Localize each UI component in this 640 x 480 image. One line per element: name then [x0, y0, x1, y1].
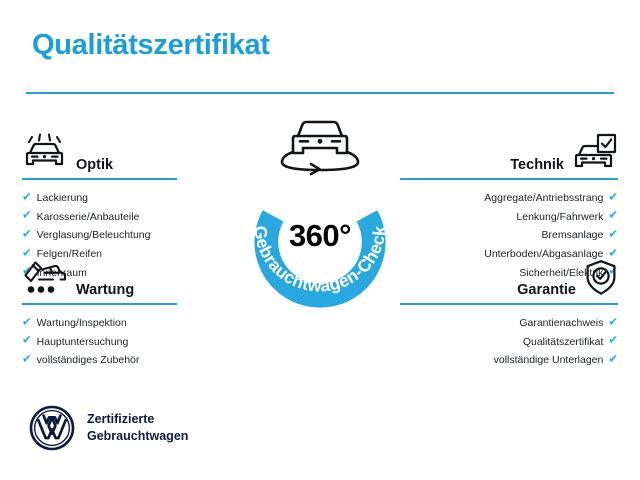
section-optik-divider [22, 178, 177, 180]
list-item-label: Wartung/Inspektion [37, 314, 127, 333]
section-garantie-header: Garantie [400, 258, 618, 298]
shield-check-icon [584, 258, 618, 298]
check-icon: ✔ [608, 192, 618, 204]
section-garantie-title: Garantie [400, 283, 576, 299]
section-garantie-list: Garantienachweis✔ Qualitätszertifikat✔ v… [400, 314, 618, 370]
section-wartung: Wartung ✔Wartung/Inspektion ✔Hauptunters… [22, 258, 237, 370]
list-item-label: Verglasung/Beleuchtung [37, 226, 151, 245]
list-item: Lenkung/Fahrwerk✔ [400, 208, 618, 227]
section-technik-divider [400, 178, 618, 180]
badge-360-gebrauchtwagen-check: Gebrauchtwagen-Check 360° [236, 112, 404, 312]
page-title: Qualitätszertifikat [32, 30, 270, 62]
vw-footer-line2: Gebrauchtwagen [87, 428, 188, 445]
section-optik-header: Optik [22, 133, 237, 173]
check-icon: ✔ [608, 229, 618, 241]
section-wartung-divider [22, 303, 177, 305]
list-item-label: Qualitätszertifikat [523, 333, 604, 352]
list-item: ✔Lackierung [22, 189, 237, 208]
check-icon: ✔ [608, 354, 618, 366]
section-garantie: Garantie Garantienachweis✔ Qualitätszert… [400, 258, 618, 370]
badge-degrees-label: 360° [236, 220, 404, 251]
check-icon: ✔ [22, 211, 32, 223]
list-item-label: Lackierung [37, 189, 88, 208]
list-item: ✔Hauptuntersuchung [22, 333, 237, 352]
list-item: ✔Verglasung/Beleuchtung [22, 226, 237, 245]
list-item-label: Hauptuntersuchung [37, 333, 129, 352]
check-icon: ✔ [22, 317, 32, 329]
section-technik-header: Technik [400, 133, 618, 173]
list-item: ✔vollständiges Zubehör [22, 351, 237, 370]
qualitaetszertifikat-page: Qualitätszertifikat Opt [0, 0, 640, 480]
vw-footer: Zertifizierte Gebrauchtwagen [29, 405, 188, 451]
list-item: Bremsanlage✔ [400, 226, 618, 245]
list-item: Qualitätszertifikat✔ [400, 333, 618, 352]
check-icon: ✔ [22, 336, 32, 348]
section-garantie-divider [400, 303, 618, 305]
list-item-label: Garantienachweis [519, 314, 603, 333]
list-item: ✔Wartung/Inspektion [22, 314, 237, 333]
check-icon: ✔ [22, 229, 32, 241]
section-optik-title: Optik [76, 158, 237, 174]
vw-footer-line1: Zertifizierte [87, 411, 188, 428]
list-item-label: Lenkung/Fahrwerk [516, 208, 603, 227]
list-item-label: Karosserie/Anbauteile [37, 208, 140, 227]
list-item-label: Bremsanlage [541, 226, 603, 245]
check-icon: ✔ [22, 192, 32, 204]
section-wartung-title: Wartung [76, 283, 237, 299]
pen-car-service-icon [22, 258, 68, 298]
check-icon: ✔ [608, 211, 618, 223]
list-item: vollständige Unterlagen✔ [400, 351, 618, 370]
check-icon: ✔ [608, 317, 618, 329]
title-divider [26, 92, 614, 94]
list-item: Aggregate/Antriebsstrang✔ [400, 189, 618, 208]
list-item-label: Aggregate/Antriebsstrang [484, 189, 603, 208]
list-item-label: vollständiges Zubehör [37, 351, 140, 370]
check-icon: ✔ [22, 354, 32, 366]
section-wartung-list: ✔Wartung/Inspektion ✔Hauptuntersuchung ✔… [22, 314, 237, 370]
list-item: Garantienachweis✔ [400, 314, 618, 333]
vw-footer-text: Zertifizierte Gebrauchtwagen [87, 411, 188, 445]
section-technik-title: Technik [400, 158, 564, 174]
car-checkbox-icon [572, 133, 618, 173]
list-item-label: vollständige Unterlagen [494, 351, 604, 370]
check-icon: ✔ [608, 336, 618, 348]
section-wartung-header: Wartung [22, 258, 237, 298]
list-item: ✔Karosserie/Anbauteile [22, 208, 237, 227]
car-shine-icon [22, 133, 68, 173]
vw-logo [29, 405, 75, 451]
